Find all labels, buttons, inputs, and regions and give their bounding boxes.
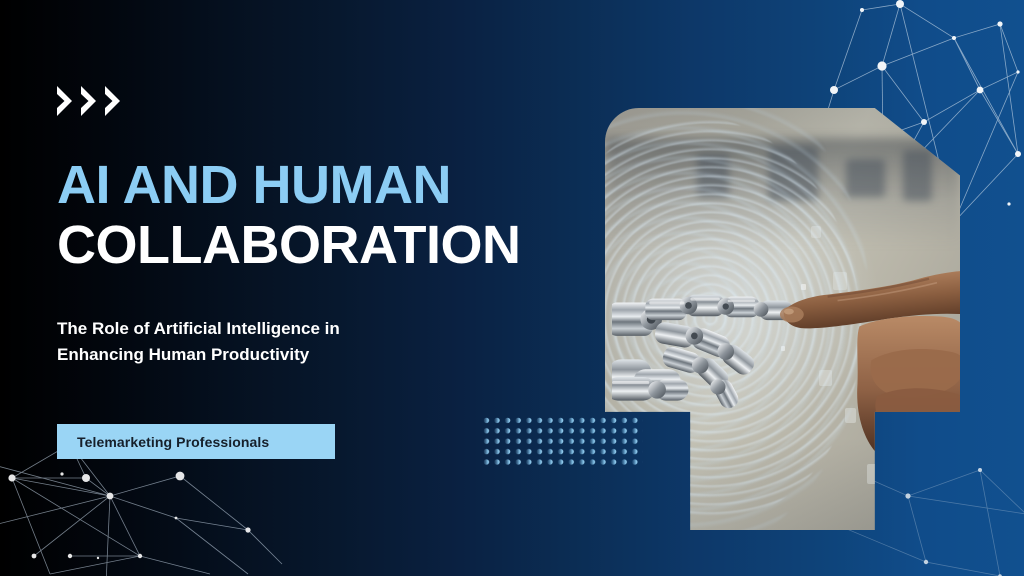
hero-image-panel	[605, 108, 960, 530]
chevron-right-icon	[103, 84, 125, 118]
chevron-right-icon	[55, 84, 77, 118]
slide-subtitle: The Role of Artificial Intelligence in E…	[57, 316, 477, 369]
subtitle-line-2: Enhancing Human Productivity	[57, 342, 477, 368]
chevron-right-icon	[79, 84, 101, 118]
organization-badge-label: Telemarketing Professionals	[57, 434, 269, 450]
hero-image	[605, 108, 960, 530]
presentation-slide: AI AND HUMAN COLLABORATION The Role of A…	[0, 0, 1024, 576]
chevron-group	[55, 84, 125, 118]
title-line-2: COLLABORATION	[57, 215, 657, 275]
title-line-1: AI AND HUMAN	[57, 155, 657, 215]
organization-badge: Telemarketing Professionals	[57, 424, 335, 459]
slide-title: AI AND HUMAN COLLABORATION	[57, 155, 657, 276]
hero-image-clip	[605, 108, 960, 530]
human-hand	[768, 251, 960, 454]
subtitle-line-1: The Role of Artificial Intelligence in	[57, 316, 477, 342]
